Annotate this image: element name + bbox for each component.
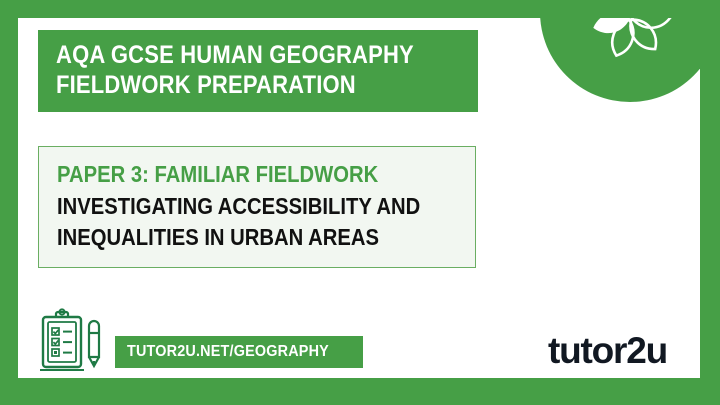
slide-frame: AQA GCSE HUMAN GEOGRAPHY FIELDWORK PREPA… — [0, 0, 720, 405]
topic-line-1: INVESTIGATING ACCESSIBILITY AND — [57, 191, 425, 222]
subtitle-panel: PAPER 3: FAMILIAR FIELDWORK INVESTIGATIN… — [38, 146, 476, 268]
tutor2u-flower-logo — [558, 18, 700, 84]
page-title-line-2: FIELDWORK PREPARATION — [56, 70, 427, 100]
url-text: TUTOR2U.NET/GEOGRAPHY — [127, 343, 329, 360]
topic-line-2: INEQUALITIES IN URBAN AREAS — [57, 222, 425, 253]
tutor2u-wordmark: tutor2u — [548, 330, 667, 372]
title-bar: AQA GCSE HUMAN GEOGRAPHY FIELDWORK PREPA… — [38, 30, 478, 112]
url-badge[interactable]: TUTOR2U.NET/GEOGRAPHY — [115, 336, 363, 368]
clipboard-checklist-icon — [34, 306, 114, 378]
slide-canvas: AQA GCSE HUMAN GEOGRAPHY FIELDWORK PREPA… — [18, 18, 700, 378]
paper-label: PAPER 3: FAMILIAR FIELDWORK — [57, 159, 425, 189]
page-title-line-1: AQA GCSE HUMAN GEOGRAPHY — [56, 40, 427, 70]
